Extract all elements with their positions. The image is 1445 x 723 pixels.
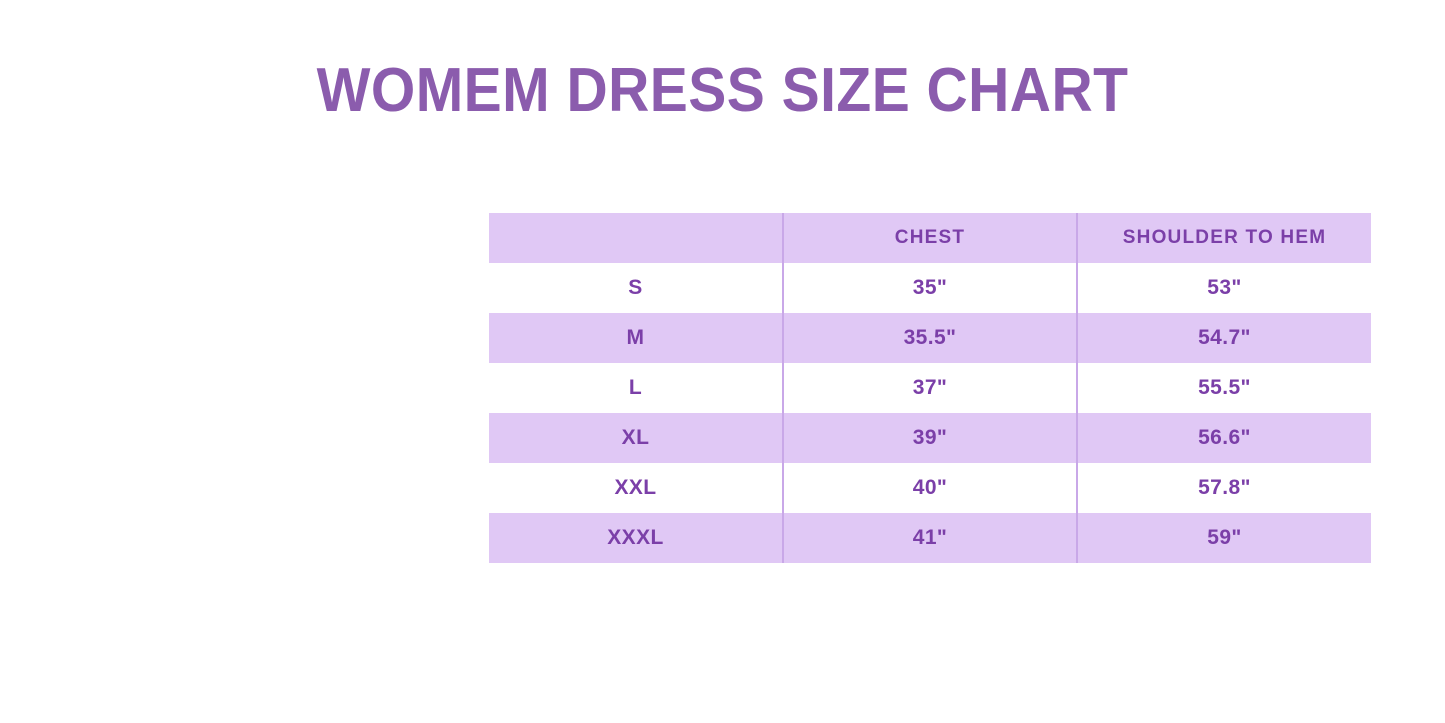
cell-chest: 35": [783, 263, 1077, 313]
table-header-row: CHEST SHOULDER TO HEM: [489, 213, 1371, 263]
table-row: XL 39" 56.6": [489, 413, 1371, 463]
table-header: CHEST SHOULDER TO HEM: [489, 213, 1371, 263]
table-row: XXL 40" 57.8": [489, 463, 1371, 513]
cell-chest: 40": [783, 463, 1077, 513]
cell-shoulder-to-hem: 54.7": [1077, 313, 1371, 363]
cell-shoulder-to-hem: 56.6": [1077, 413, 1371, 463]
cell-size: S: [489, 263, 783, 313]
column-header-size: [489, 213, 783, 263]
table-row: S 35" 53": [489, 263, 1371, 313]
page-title: WOMEM DRESS SIZE CHART: [58, 55, 1387, 127]
cell-chest: 37": [783, 363, 1077, 413]
cell-size: XXL: [489, 463, 783, 513]
cell-shoulder-to-hem: 57.8": [1077, 463, 1371, 513]
size-chart-table: CHEST SHOULDER TO HEM S 35" 53" M 35.5" …: [489, 213, 1371, 563]
cell-chest: 35.5": [783, 313, 1077, 363]
cell-shoulder-to-hem: 53": [1077, 263, 1371, 313]
cell-chest: 41": [783, 513, 1077, 563]
cell-shoulder-to-hem: 59": [1077, 513, 1371, 563]
cell-size: M: [489, 313, 783, 363]
cell-shoulder-to-hem: 55.5": [1077, 363, 1371, 413]
table-row: XXXL 41" 59": [489, 513, 1371, 563]
column-header-shoulder-to-hem: SHOULDER TO HEM: [1077, 213, 1371, 263]
column-header-chest: CHEST: [783, 213, 1077, 263]
table-body: S 35" 53" M 35.5" 54.7" L 37" 55.5" XL 3…: [489, 263, 1371, 563]
cell-size: XL: [489, 413, 783, 463]
cell-chest: 39": [783, 413, 1077, 463]
cell-size: XXXL: [489, 513, 783, 563]
cell-size: L: [489, 363, 783, 413]
table-row: M 35.5" 54.7": [489, 313, 1371, 363]
table-row: L 37" 55.5": [489, 363, 1371, 413]
